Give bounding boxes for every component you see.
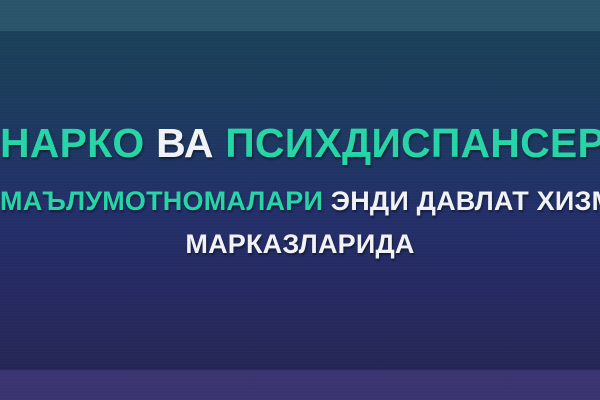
headline-line1-segment-3: ПСИХДИСПАНСЕР — [225, 120, 600, 166]
headline-text-block: НАРКО ВА ПСИХДИСПАНСЕР МАЪЛУМОТНОМАЛАРИ … — [0, 0, 600, 400]
headline-line2-segment-1: МАЪЛУМОТНОМАЛАРИ — [0, 186, 323, 216]
headline-line1-segment-1: НАРКО — [0, 120, 144, 166]
headline-line2-segment-2: ЭНДИ ДАВЛАТ ХИЗМАТЛАРИ — [331, 186, 600, 216]
headline-line-3: МАРКАЗЛАРИДА — [0, 229, 600, 259]
headline-line-1: НАРКО ВА ПСИХДИСПАНСЕР — [0, 121, 600, 165]
headline-line-2: МАЪЛУМОТНОМАЛАРИ ЭНДИ ДАВЛАТ ХИЗМАТЛАРИ — [0, 186, 600, 216]
headline-line3-segment-1: МАРКАЗЛАРИДА — [185, 229, 414, 259]
video-thumbnail-banner: НАРКО ВА ПСИХДИСПАНСЕР МАЪЛУМОТНОМАЛАРИ … — [0, 0, 600, 400]
headline-line1-segment-2: ВА — [156, 120, 214, 166]
